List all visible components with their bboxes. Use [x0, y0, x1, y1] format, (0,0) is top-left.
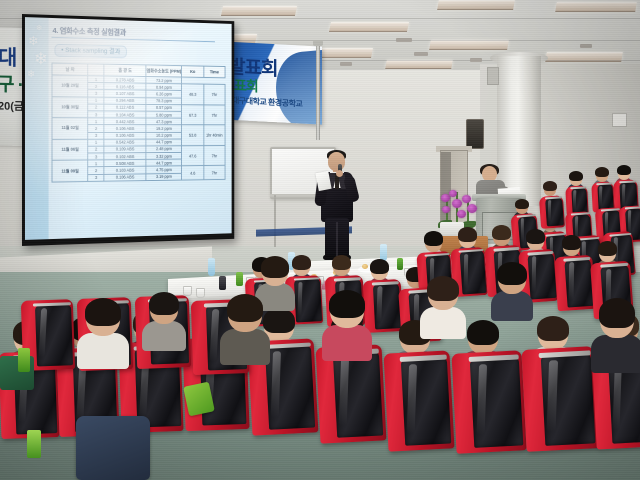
- presenter-leg-split: [336, 222, 338, 256]
- banner-wave-graphic: [271, 49, 322, 124]
- person-hair: [424, 231, 443, 246]
- cell-date: 11월 02일: [52, 118, 88, 139]
- auditorium-seat[interactable]: [383, 350, 454, 451]
- cell-ko: 47.6: [182, 146, 204, 167]
- person-shoulders: [591, 335, 640, 373]
- cookie: [362, 264, 368, 269]
- person-hair: [543, 181, 557, 191]
- cell-abs: 0.106 ABS: [104, 125, 146, 132]
- cell-ppm: 3.19 ppm: [146, 173, 182, 180]
- cell-date: 10월 30일: [52, 96, 88, 118]
- snowflake-icon: ❄: [36, 23, 43, 32]
- wall-outlet-box: [612, 113, 627, 127]
- soda-can: [27, 430, 41, 458]
- ceiling-light: [385, 60, 453, 69]
- banner-pole: [316, 44, 320, 140]
- person-hair: [515, 199, 529, 209]
- person-hair: [149, 292, 179, 315]
- cell-time: 1hr 40min: [204, 125, 226, 145]
- person-hair: [370, 259, 389, 274]
- th-ko: Ko: [182, 66, 204, 78]
- soda-can: [219, 276, 226, 290]
- person-hair: [526, 229, 545, 244]
- whiteboard-leg: [274, 195, 276, 247]
- ceiling-light: [429, 40, 509, 50]
- cell-time: 7hr: [204, 84, 226, 105]
- orchid-petal: [457, 210, 466, 218]
- auditorium-seat[interactable]: [539, 195, 565, 229]
- banner-right-line3: 대구대학교 환경공학교: [232, 95, 302, 110]
- cell-ko: 4.6: [182, 166, 204, 180]
- th-ppm: 염화수소농도 (PPM): [146, 65, 182, 77]
- person-hair: [458, 227, 477, 242]
- wall-speaker-icon: [466, 119, 484, 149]
- cell-time: 7hr: [204, 105, 226, 125]
- person-hair: [227, 294, 263, 322]
- ceiling-light: [329, 22, 409, 32]
- cell-ko: 48.3: [182, 84, 204, 105]
- person-shoulders: [142, 321, 186, 351]
- person-hair: [261, 256, 289, 278]
- cell-date: 11월 06일: [52, 139, 88, 160]
- person-shoulders: [220, 329, 270, 365]
- cell-no: 3: [88, 132, 104, 139]
- person-hair: [332, 255, 351, 270]
- backpack: [76, 416, 150, 480]
- cell-date: 11월 09일: [52, 160, 88, 182]
- banner-left-line2: 구 ·: [0, 69, 23, 97]
- orchid-petal: [462, 195, 471, 203]
- presenter-hand: [336, 170, 343, 177]
- snowflake-icon: ❄: [34, 49, 48, 69]
- th-date: 날 짜: [52, 63, 88, 75]
- ceiling-light: [221, 6, 297, 16]
- cell-ko: 67.3: [182, 104, 204, 125]
- banner-right-line2: 표회: [234, 75, 258, 96]
- person-shoulders: [322, 325, 372, 361]
- ceiling-vent: [580, 44, 592, 48]
- cell-abs: 0.442 ABS: [104, 118, 146, 125]
- ceiling-light: [437, 0, 515, 10]
- seat-highlight: [463, 254, 468, 288]
- cell-no: 1: [88, 118, 104, 125]
- water-bottle: [208, 258, 215, 276]
- slide-title-rule: [52, 37, 215, 42]
- person-hair: [85, 298, 121, 326]
- orchid-petal: [442, 206, 450, 213]
- snowflake-icon: ❄: [27, 69, 35, 80]
- paper-cup: [196, 288, 205, 298]
- person-shoulders: [77, 333, 129, 369]
- person-shoulders: [420, 307, 466, 339]
- cell-ko: 53.8: [182, 125, 204, 146]
- person-hair: [599, 298, 635, 328]
- slide-data-table: 날 짜 흡 광 도 염화수소농도 (PPM) Ko Time 10월 29일10…: [52, 63, 226, 183]
- ceiling-light: [555, 2, 637, 12]
- cell-ppm: 19.2 ppm: [146, 125, 182, 132]
- person-hair: [497, 262, 527, 285]
- th-no: [88, 64, 104, 76]
- presenter: [314, 152, 360, 262]
- auditorium-seat[interactable]: [451, 350, 526, 454]
- person-hair: [595, 167, 609, 177]
- orchid-petal: [449, 190, 457, 197]
- orchid-petal: [467, 204, 477, 213]
- banner-left-line1: 대: [0, 41, 16, 71]
- seat-highlight: [521, 218, 524, 244]
- cell-ppm: 47.3 ppm: [146, 118, 182, 125]
- soda-can: [236, 272, 243, 286]
- ceiling-vent: [470, 58, 482, 62]
- slide-bullet: • Stack sampling 결과: [54, 44, 126, 58]
- cell-time: 7hr: [204, 166, 226, 180]
- cell-no: 2: [88, 125, 104, 132]
- cell-no: 1: [88, 139, 104, 146]
- ceiling-vent: [414, 52, 428, 56]
- orchid-petal: [452, 199, 462, 208]
- th-time: Time: [204, 66, 226, 78]
- cell-date: 10월 29일: [52, 75, 88, 97]
- projection-screen: ❄ ❄ ❄ ❄ 4. 염화수소 측정 실험결과 • Stack sampling…: [25, 17, 232, 240]
- ceiling-vent: [340, 62, 352, 66]
- cell-no: 3: [88, 111, 104, 118]
- cell-time: 7hr: [204, 145, 226, 166]
- person-hair: [263, 308, 295, 333]
- cell-no: 3: [88, 174, 104, 181]
- person-hair: [617, 165, 631, 175]
- soda-can: [18, 348, 30, 372]
- person-hair: [292, 255, 311, 270]
- person-hair: [427, 276, 459, 301]
- projection-screen-frame: ❄ ❄ ❄ ❄ 4. 염화수소 측정 실험결과 • Stack sampling…: [22, 14, 234, 246]
- th-abs: 흡 광 도: [104, 64, 146, 76]
- person-shoulders: [491, 291, 533, 321]
- soda-can: [397, 258, 403, 270]
- slide-title: 4. 염화수소 측정 실험결과: [52, 25, 125, 38]
- wall-fixture: [487, 67, 499, 85]
- auditorium-seat[interactable]: [363, 279, 404, 333]
- person-hair: [492, 225, 511, 240]
- person-hair: [329, 290, 365, 318]
- auditorium-seat[interactable]: [521, 346, 598, 452]
- seat-highlight: [568, 263, 573, 301]
- lecture-hall-photo: 대 구 · 20(금) 발표회 표회 대구대학교 환경공학교 ❄ ❄ ❄ ❄ 4…: [0, 0, 640, 480]
- cell-no: 2: [88, 104, 104, 111]
- person-hair: [569, 171, 583, 181]
- ceiling-vent: [396, 38, 412, 42]
- person-hair: [537, 316, 569, 341]
- person-hair: [562, 235, 581, 250]
- banner-right: 발표회 표회 대구대학교 환경공학교: [222, 41, 322, 124]
- seat-highlight: [548, 200, 551, 223]
- snowflake-icon: ❄: [28, 33, 39, 49]
- cell-abs: 0.106 ABS: [104, 173, 146, 181]
- banner-pole-cap: [313, 40, 323, 46]
- person-hair: [598, 241, 617, 256]
- person-hair: [467, 320, 499, 345]
